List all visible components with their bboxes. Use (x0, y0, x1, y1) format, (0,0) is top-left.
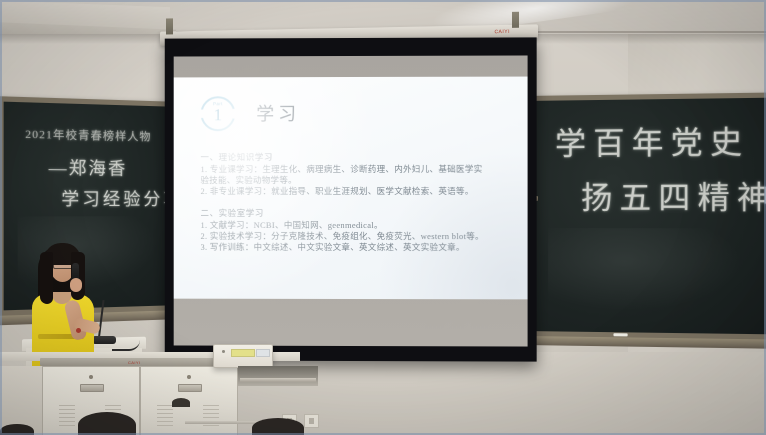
blackboard-right-line-1: 学百年党史 (555, 116, 750, 163)
audience-head-2 (252, 418, 304, 435)
control-box-slot (231, 349, 255, 357)
blackboard-right-surface: 学百年党史 扬五四精神 (529, 98, 766, 335)
section-1-item-1: 1. 专业课学习：生理生化、病理病生、诊断药理、内外妇儿、基础医学实 (201, 164, 511, 175)
presenter-hand (70, 278, 82, 292)
vent-grille (59, 405, 75, 429)
control-box-panel (256, 349, 270, 357)
projector-screen: Part 1 学习 一、理论知识学习 1. 专业课学习：生理生化、病理病生、诊断… (165, 37, 537, 361)
control-box[interactable] (213, 344, 273, 368)
blackboard-left-line-1: 2021年校青春榜样人物 (25, 125, 151, 144)
section-2-item-2: 2. 实验技术学习：分子克隆技术、免疫组化、免疫荧光、western blot等… (201, 231, 511, 242)
part-badge: Part 1 (201, 96, 236, 131)
status-dot (222, 350, 225, 353)
section-spacer (201, 197, 511, 207)
section-1-item-1-cont: 验技能、实验动物学等。 (201, 175, 511, 186)
badge-number: 1 (201, 106, 236, 123)
housing-bracket-right (512, 12, 519, 28)
section-2-heading: 二、实验室学习 (201, 207, 511, 219)
housing-brand-label: CAIYI (494, 29, 510, 35)
presentation-slide: Part 1 学习 一、理论知识学习 1. 专业课学习：生理生化、病理病生、诊断… (174, 77, 528, 300)
blackboard-left-line-2: —郑海香 (49, 153, 128, 180)
audience-head-1 (78, 412, 136, 435)
power-outlet-2[interactable] (304, 414, 319, 428)
vent-grille (203, 405, 219, 429)
shelf-edge (240, 378, 316, 382)
section-2-item-1: 1. 文献学习：NCBI、中国知网、geenmedical。 (201, 220, 511, 231)
bracelet (76, 328, 81, 333)
desk-object (172, 398, 190, 407)
screen-canvas: Part 1 学习 一、理论知识学习 1. 专业课学习：生理生化、病理病生、诊断… (174, 55, 528, 346)
audience-head-3 (0, 424, 34, 435)
slide-title: 学习 (256, 100, 300, 126)
cabinet-handle[interactable] (80, 384, 104, 392)
housing-bracket-left (166, 18, 173, 34)
cabinet-rail-label: CAIYI (128, 360, 140, 365)
cabinet-handle[interactable] (178, 384, 202, 392)
open-shelf-recess (238, 366, 318, 386)
section-2-item-3: 3. 写作训练：中文综述、中文实验文章、英文综述、英文实验文章。 (201, 242, 511, 253)
section-1-item-2: 2. 非专业课学习：就业指导、职业生涯规划、医学文献检索、英语等。 (201, 186, 511, 197)
classroom-photo: 2021年校青春榜样人物 —郑海香 学习经验分享 学百年党史 扬五四精神 CAI… (0, 0, 766, 435)
outlet-socket (309, 418, 314, 424)
lock-icon (89, 375, 93, 379)
chalk-piece (613, 333, 627, 336)
section-1-heading: 一、理论知识学习 (201, 151, 511, 163)
chalk-smudge (548, 228, 743, 313)
blackboard-right: 学百年党史 扬五四精神 (524, 92, 766, 339)
presenter-hair-left (40, 252, 53, 304)
lock-icon (187, 375, 191, 379)
slide-body: 一、理论知识学习 1. 专业课学习：生理生化、病理病生、诊断药理、内外妇儿、基础… (201, 151, 511, 253)
blackboard-right-line-2: 扬五四精神 (581, 172, 766, 218)
blackboard-left-line-3: 学习经验分享 (61, 184, 177, 210)
vent-grille (157, 405, 173, 429)
